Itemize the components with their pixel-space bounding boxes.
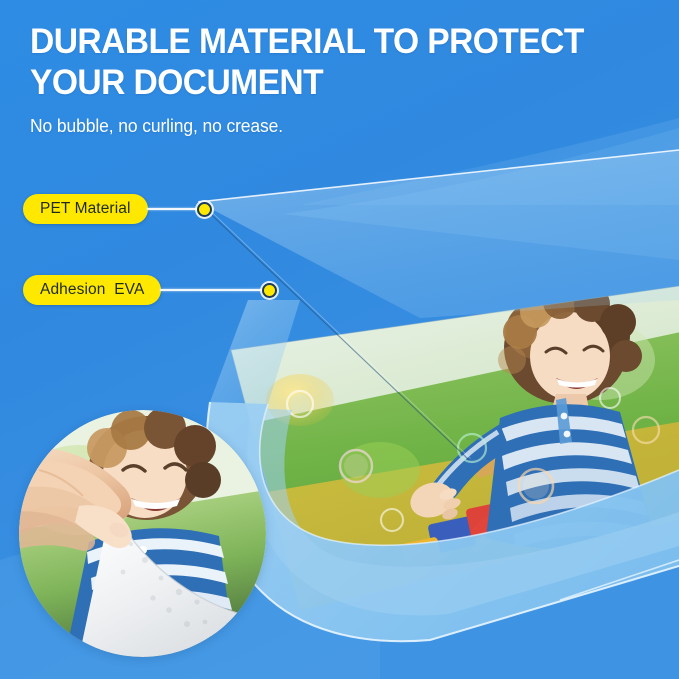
page-subtitle: No bubble, no curling, no crease. xyxy=(30,116,612,137)
inset-closeup-circle xyxy=(19,410,266,657)
callout-eva-label: Adhesion EVA xyxy=(23,275,161,305)
callout-dot-pet xyxy=(197,202,212,217)
text-block: DURABLE MATERIAL TO PROTECT YOUR DOCUMEN… xyxy=(30,22,630,137)
leader-line-eva xyxy=(160,289,264,291)
callout-pet-material[interactable]: PET Material xyxy=(23,194,212,224)
leader-line-pet xyxy=(147,208,199,210)
page-title: DURABLE MATERIAL TO PROTECT YOUR DOCUMEN… xyxy=(30,22,606,103)
callout-adhesion-eva[interactable]: Adhesion EVA xyxy=(23,275,277,305)
callout-pet-label: PET Material xyxy=(23,194,148,224)
callout-dot-eva xyxy=(262,283,277,298)
product-infographic: DURABLE MATERIAL TO PROTECT YOUR DOCUMEN… xyxy=(0,0,679,679)
